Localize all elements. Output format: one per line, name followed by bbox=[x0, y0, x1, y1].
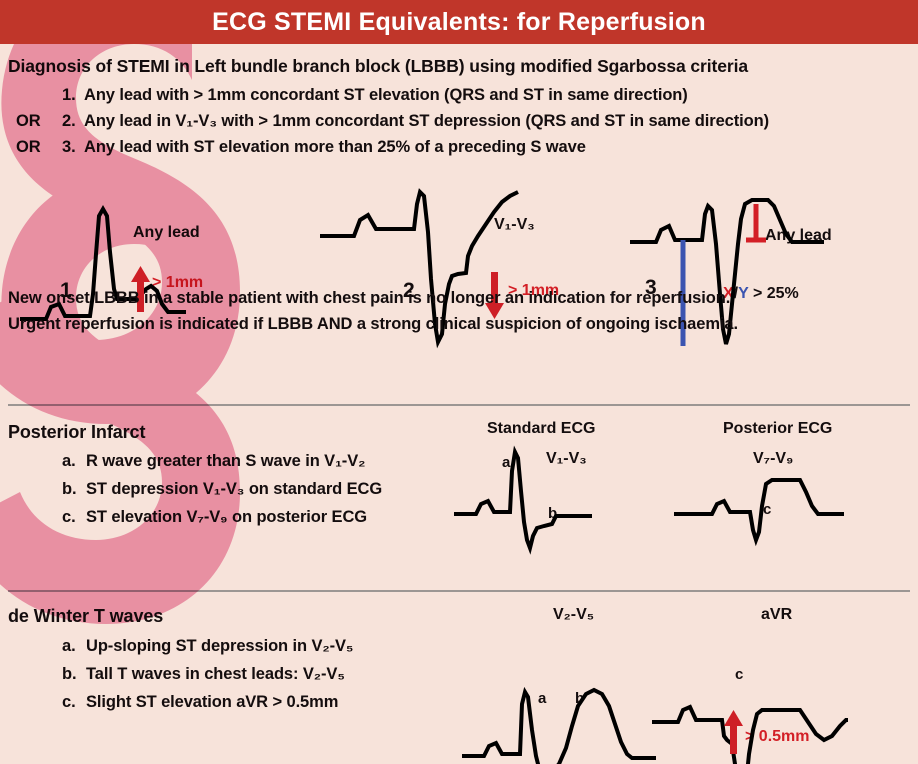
dewinter-item-a-letter: a. bbox=[62, 637, 76, 656]
lbbb-note-and-emphasis: AND bbox=[317, 315, 352, 333]
lbbb-note-line-2: Urgent reperfusion is indicated if LBBB … bbox=[8, 315, 738, 334]
posterior-item-a-letter: a. bbox=[62, 452, 76, 471]
dewinter-avr-up-arrow-icon bbox=[723, 710, 747, 756]
ecg-trace-posterior bbox=[672, 436, 862, 566]
posterior-item-b-text: ST depression V₁-V₃ on standard ECG bbox=[86, 480, 382, 499]
criterion-3-prefix: OR bbox=[16, 138, 41, 157]
criterion-2-number: 2. bbox=[62, 112, 76, 131]
lbbb-note-line-2-pre: Urgent reperfusion is indicated if LBBB bbox=[8, 315, 317, 333]
divider-1 bbox=[8, 404, 910, 406]
dewinter-chest-lead-label: V₂-V₅ bbox=[553, 606, 594, 624]
posterior-item-c-text: ST elevation V₇-V₉ on posterior ECG bbox=[86, 508, 367, 527]
criterion-2-prefix: OR bbox=[16, 112, 41, 131]
criterion-1-text: Any lead with > 1mm concordant ST elevat… bbox=[84, 86, 688, 105]
lbbb-note-line-1: New onset LBBB in a stable patient with … bbox=[8, 289, 730, 308]
dewinter-heading: de Winter T waves bbox=[8, 606, 163, 627]
ecg-trace-standard bbox=[452, 436, 642, 566]
dewinter-item-c-text: Slight ST elevation aVR > 0.5mm bbox=[86, 693, 338, 712]
lbbb-heading: Diagnosis of STEMI in Left bundle branch… bbox=[8, 56, 748, 77]
content-layer: Diagnosis of STEMI in Left bundle branch… bbox=[0, 44, 918, 764]
page-title: ECG STEMI Equivalents: for Reperfusion bbox=[0, 0, 918, 44]
lbbb-note-line-2-post: a strong clinical suspicion of ongoing i… bbox=[352, 315, 738, 333]
dewinter-item-a-text: Up-sloping ST depression in V₂-V₅ bbox=[86, 637, 353, 656]
dewinter-item-b-text: Tall T waves in chest leads: V₂-V₅ bbox=[86, 665, 345, 684]
dewinter-avr-lead-label: aVR bbox=[761, 606, 792, 624]
posterior-item-b-letter: b. bbox=[62, 480, 76, 499]
criterion-1-number: 1. bbox=[62, 86, 76, 105]
dewinter-item-b-letter: b. bbox=[62, 665, 76, 684]
criterion-3-number: 3. bbox=[62, 138, 76, 157]
ecg-trace-dewinter-chest bbox=[460, 644, 660, 764]
posterior-heading: Posterior Infarct bbox=[8, 422, 145, 443]
dewinter-item-c-letter: c. bbox=[62, 693, 76, 712]
ecg-trace-dewinter-avr bbox=[650, 644, 850, 764]
infographic-page: Diagnosis of STEMI in Left bundle branch… bbox=[0, 0, 918, 764]
divider-2 bbox=[8, 590, 910, 592]
posterior-item-a-text: R wave greater than S wave in V₁-V₂ bbox=[86, 452, 365, 471]
posterior-item-c-letter: c. bbox=[62, 508, 76, 527]
criterion-3-text: Any lead with ST elevation more than 25%… bbox=[84, 138, 586, 157]
criterion-2-text: Any lead in V₁-V₃ with > 1mm concordant … bbox=[84, 112, 769, 131]
